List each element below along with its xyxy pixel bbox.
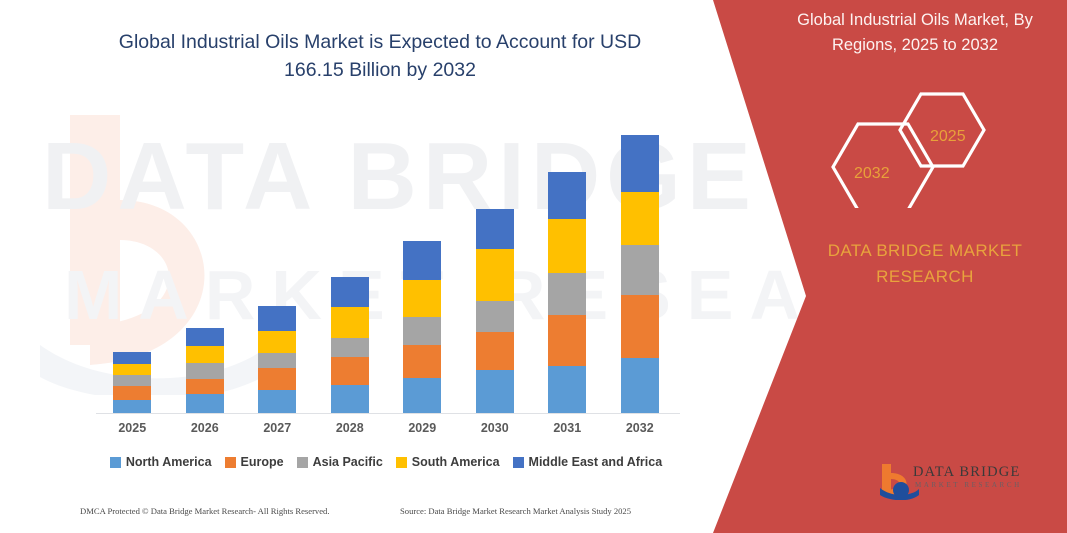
bar-segment-north-america [186, 394, 224, 413]
bar-segment-south-america [476, 249, 514, 301]
bar-segment-south-america [403, 280, 441, 317]
bar-segment-south-america [113, 364, 151, 375]
bar-column-2025 [96, 120, 168, 413]
bar-segment-asia-pacific [258, 353, 296, 368]
hex-label-2032: 2032 [854, 165, 890, 183]
legend-swatch-icon [396, 457, 407, 468]
bar-column-2027 [241, 120, 313, 413]
bar-segment-south-america [621, 192, 659, 244]
hex-label-2025: 2025 [930, 128, 966, 146]
bar-segment-north-america [258, 390, 296, 413]
x-axis-label-2028: 2028 [314, 421, 386, 435]
bar-column-2026 [169, 120, 241, 413]
chart-legend: North AmericaEuropeAsia PacificSouth Ame… [96, 455, 676, 469]
footer-copyright: DMCA Protected © Data Bridge Market Rese… [80, 506, 330, 516]
bar-segment-middle-east-and-africa [331, 277, 369, 307]
bar-segment-middle-east-and-africa [186, 328, 224, 346]
infographic-root: DATA BRIDGE MARKET RESEARCH Global Indus… [0, 0, 1067, 533]
chart-title: Global Industrial Oils Market is Expecte… [90, 28, 670, 85]
brand-line-1: DATA BRIDGE MARKET [828, 241, 1023, 260]
legend-item-south-america[interactable]: South America [396, 455, 500, 469]
right-panel-title: Global Industrial Oils Market, By Region… [770, 8, 1060, 58]
bar-segment-middle-east-and-africa [258, 306, 296, 330]
bar-segment-europe [476, 332, 514, 369]
bar-segment-south-america [258, 331, 296, 353]
bar-segment-middle-east-and-africa [476, 209, 514, 248]
bar-segment-asia-pacific [186, 363, 224, 379]
bar-segment-north-america [403, 378, 441, 413]
bar-segment-europe [548, 315, 586, 365]
stacked-bar [621, 135, 659, 413]
x-axis-labels: 20252026202720282029203020312032 [96, 421, 676, 435]
bar-segment-europe [186, 379, 224, 394]
bar-segment-middle-east-and-africa [403, 241, 441, 279]
bar-segment-north-america [476, 370, 514, 413]
stacked-bar [113, 352, 151, 413]
x-axis-line [96, 413, 680, 414]
bar-segment-europe [113, 386, 151, 400]
bar-segment-asia-pacific [113, 375, 151, 386]
legend-label: Europe [241, 455, 284, 469]
legend-swatch-icon [297, 457, 308, 468]
bar-segment-south-america [186, 346, 224, 363]
brand-line-2: RESEARCH [876, 267, 974, 286]
stacked-bar [331, 277, 369, 413]
bar-segment-europe [258, 368, 296, 390]
bar-segment-asia-pacific [331, 338, 369, 357]
x-axis-label-2031: 2031 [531, 421, 603, 435]
stacked-bar [548, 172, 586, 413]
bar-segment-asia-pacific [548, 273, 586, 315]
x-axis-label-2027: 2027 [241, 421, 313, 435]
bar-column-2031 [531, 120, 603, 413]
x-axis-label-2025: 2025 [96, 421, 168, 435]
bar-column-2032 [604, 120, 676, 413]
legend-label: North America [126, 455, 212, 469]
bar-segment-middle-east-and-africa [113, 352, 151, 364]
footer-source: Source: Data Bridge Market Research Mark… [400, 506, 631, 516]
bar-segment-north-america [331, 385, 369, 413]
hexagon-badges: 2025 2032 [818, 88, 1028, 208]
x-axis-label-2032: 2032 [604, 421, 676, 435]
bar-segment-asia-pacific [476, 301, 514, 332]
legend-item-europe[interactable]: Europe [225, 455, 284, 469]
legend-label: Middle East and Africa [529, 455, 663, 469]
legend-label: South America [412, 455, 500, 469]
logo-text-secondary: MARKET RESEARCH [915, 481, 1022, 489]
bar-segment-europe [403, 345, 441, 377]
stacked-bar [403, 241, 441, 413]
bar-segment-asia-pacific [403, 317, 441, 345]
hexagon-outline-icons [818, 88, 1028, 208]
x-axis-label-2029: 2029 [386, 421, 458, 435]
stacked-bar [258, 306, 296, 413]
bar-column-2030 [459, 120, 531, 413]
data-bridge-logo: DATA BRIDGE MARKET RESEARCH [878, 462, 1048, 500]
brand-name: DATA BRIDGE MARKET RESEARCH [790, 238, 1060, 291]
legend-item-north-america[interactable]: North America [110, 455, 212, 469]
legend-label: Asia Pacific [313, 455, 383, 469]
legend-item-asia-pacific[interactable]: Asia Pacific [297, 455, 383, 469]
logo-text-primary: DATA BRIDGE [913, 464, 1021, 481]
legend-swatch-icon [110, 457, 121, 468]
bar-segment-middle-east-and-africa [548, 172, 586, 219]
bar-segment-asia-pacific [621, 245, 659, 295]
bar-segment-south-america [548, 219, 586, 272]
stacked-bar [186, 328, 224, 413]
bar-segment-europe [621, 295, 659, 357]
x-axis-label-2030: 2030 [459, 421, 531, 435]
bar-segment-north-america [113, 400, 151, 413]
legend-item-middle-east-and-africa[interactable]: Middle East and Africa [513, 455, 663, 469]
legend-swatch-icon [513, 457, 524, 468]
bar-column-2028 [314, 120, 386, 413]
x-axis-label-2026: 2026 [169, 421, 241, 435]
legend-swatch-icon [225, 457, 236, 468]
stacked-bar-chart [96, 120, 676, 413]
bar-segment-north-america [621, 358, 659, 413]
bar-column-2029 [386, 120, 458, 413]
bar-segment-europe [331, 357, 369, 384]
bar-segment-south-america [331, 307, 369, 338]
bar-segment-north-america [548, 366, 586, 413]
stacked-bar [476, 209, 514, 413]
bar-segment-middle-east-and-africa [621, 135, 659, 192]
